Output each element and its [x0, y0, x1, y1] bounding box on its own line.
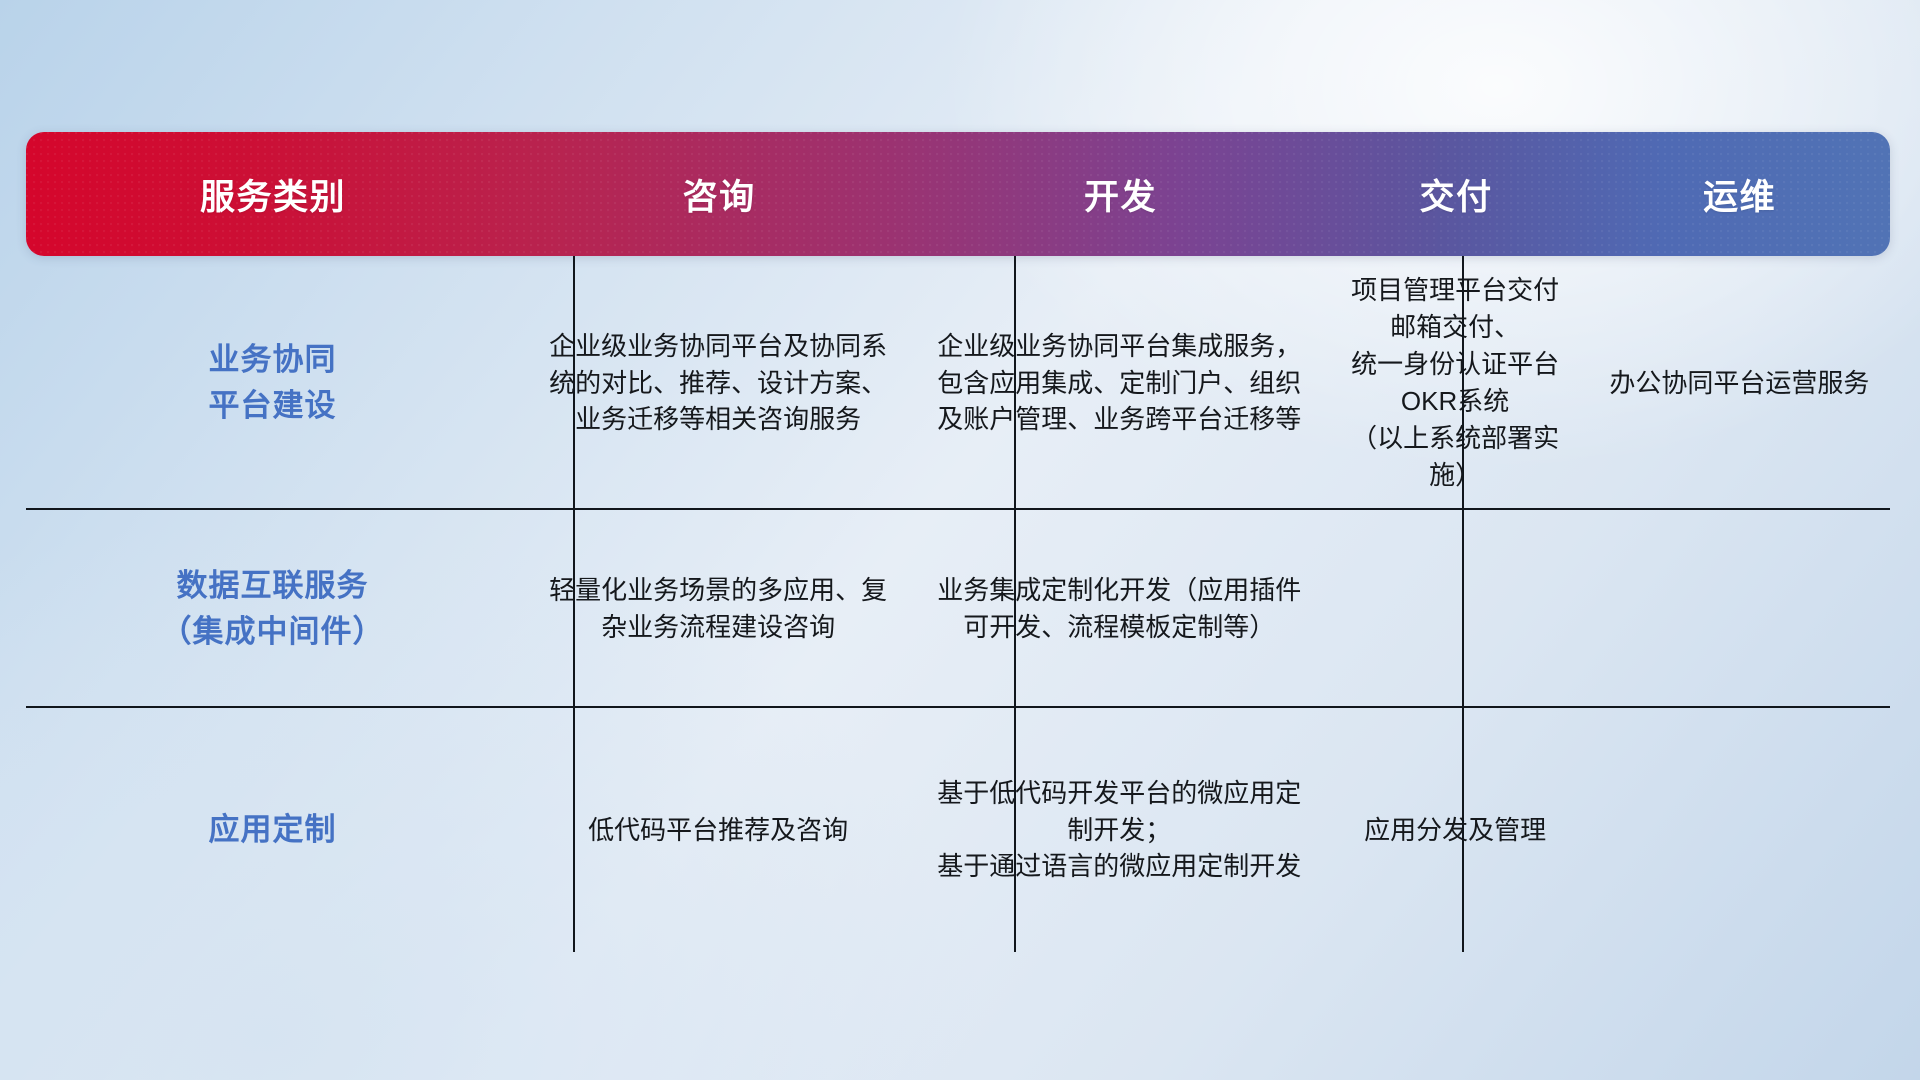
- table-body: 业务协同 平台建设 企业级业务协同平台及协同系 统的对比、推荐、设计方案、 业务…: [26, 256, 1890, 952]
- column-divider: [573, 510, 575, 708]
- cell-category-3: 应用定制: [26, 708, 519, 952]
- cell-category-2: 数据互联服务 （集成中间件）: [26, 510, 519, 708]
- cell-operations-2: [1589, 510, 1890, 708]
- column-divider: [1462, 256, 1464, 510]
- table-row: 数据互联服务 （集成中间件） 轻量化业务场景的多应用、复 杂业务流程建设咨询 业…: [26, 510, 1890, 708]
- slide-canvas: 服务类别 咨询 开发 交付 运维 业务协同 平台建设 企业级业务协同平台及协同系…: [0, 0, 1920, 1080]
- cell-operations-3: [1589, 708, 1890, 952]
- column-divider: [573, 256, 575, 510]
- column-header-development: 开发: [918, 169, 1323, 220]
- column-header-delivery: 交付: [1323, 169, 1589, 220]
- column-divider: [573, 708, 575, 952]
- table-header-row: 服务类别 咨询 开发 交付 运维: [26, 132, 1890, 256]
- cell-consulting-2: 轻量化业务场景的多应用、复 杂业务流程建设咨询: [519, 510, 917, 708]
- column-divider: [1014, 510, 1016, 708]
- column-divider: [1462, 510, 1464, 708]
- column-header-operations: 运维: [1589, 169, 1890, 220]
- column-divider: [1014, 708, 1016, 952]
- service-matrix-table: 服务类别 咨询 开发 交付 运维 业务协同 平台建设 企业级业务协同平台及协同系…: [26, 132, 1890, 952]
- column-divider: [1462, 708, 1464, 952]
- column-header-consulting: 咨询: [520, 169, 918, 220]
- column-header-category: 服务类别: [26, 169, 520, 220]
- cell-delivery-1: 项目管理平台交付 邮箱交付、 统一身份认证平台 OKR系统 （以上系统部署实施）: [1321, 256, 1588, 510]
- cell-development-1: 企业级业务协同平台集成服务， 包含应用集成、定制门户、组织 及账户管理、业务跨平…: [917, 256, 1321, 510]
- table-row: 业务协同 平台建设 企业级业务协同平台及协同系 统的对比、推荐、设计方案、 业务…: [26, 256, 1890, 510]
- cell-consulting-1: 企业级业务协同平台及协同系 统的对比、推荐、设计方案、 业务迁移等相关咨询服务: [519, 256, 917, 510]
- table-row: 应用定制 低代码平台推荐及咨询 基于低代码开发平台的微应用定 制开发； 基于通过…: [26, 708, 1890, 952]
- cell-consulting-3: 低代码平台推荐及咨询: [519, 708, 917, 952]
- cell-delivery-3: 应用分发及管理: [1321, 708, 1588, 952]
- cell-operations-1: 办公协同平台运营服务: [1589, 256, 1890, 510]
- cell-delivery-2: [1321, 510, 1588, 708]
- cell-development-3: 基于低代码开发平台的微应用定 制开发； 基于通过语言的微应用定制开发: [917, 708, 1321, 952]
- column-divider: [1014, 256, 1016, 510]
- cell-category-1: 业务协同 平台建设: [26, 256, 519, 510]
- cell-development-2: 业务集成定制化开发（应用插件 可开发、流程模板定制等）: [917, 510, 1321, 708]
